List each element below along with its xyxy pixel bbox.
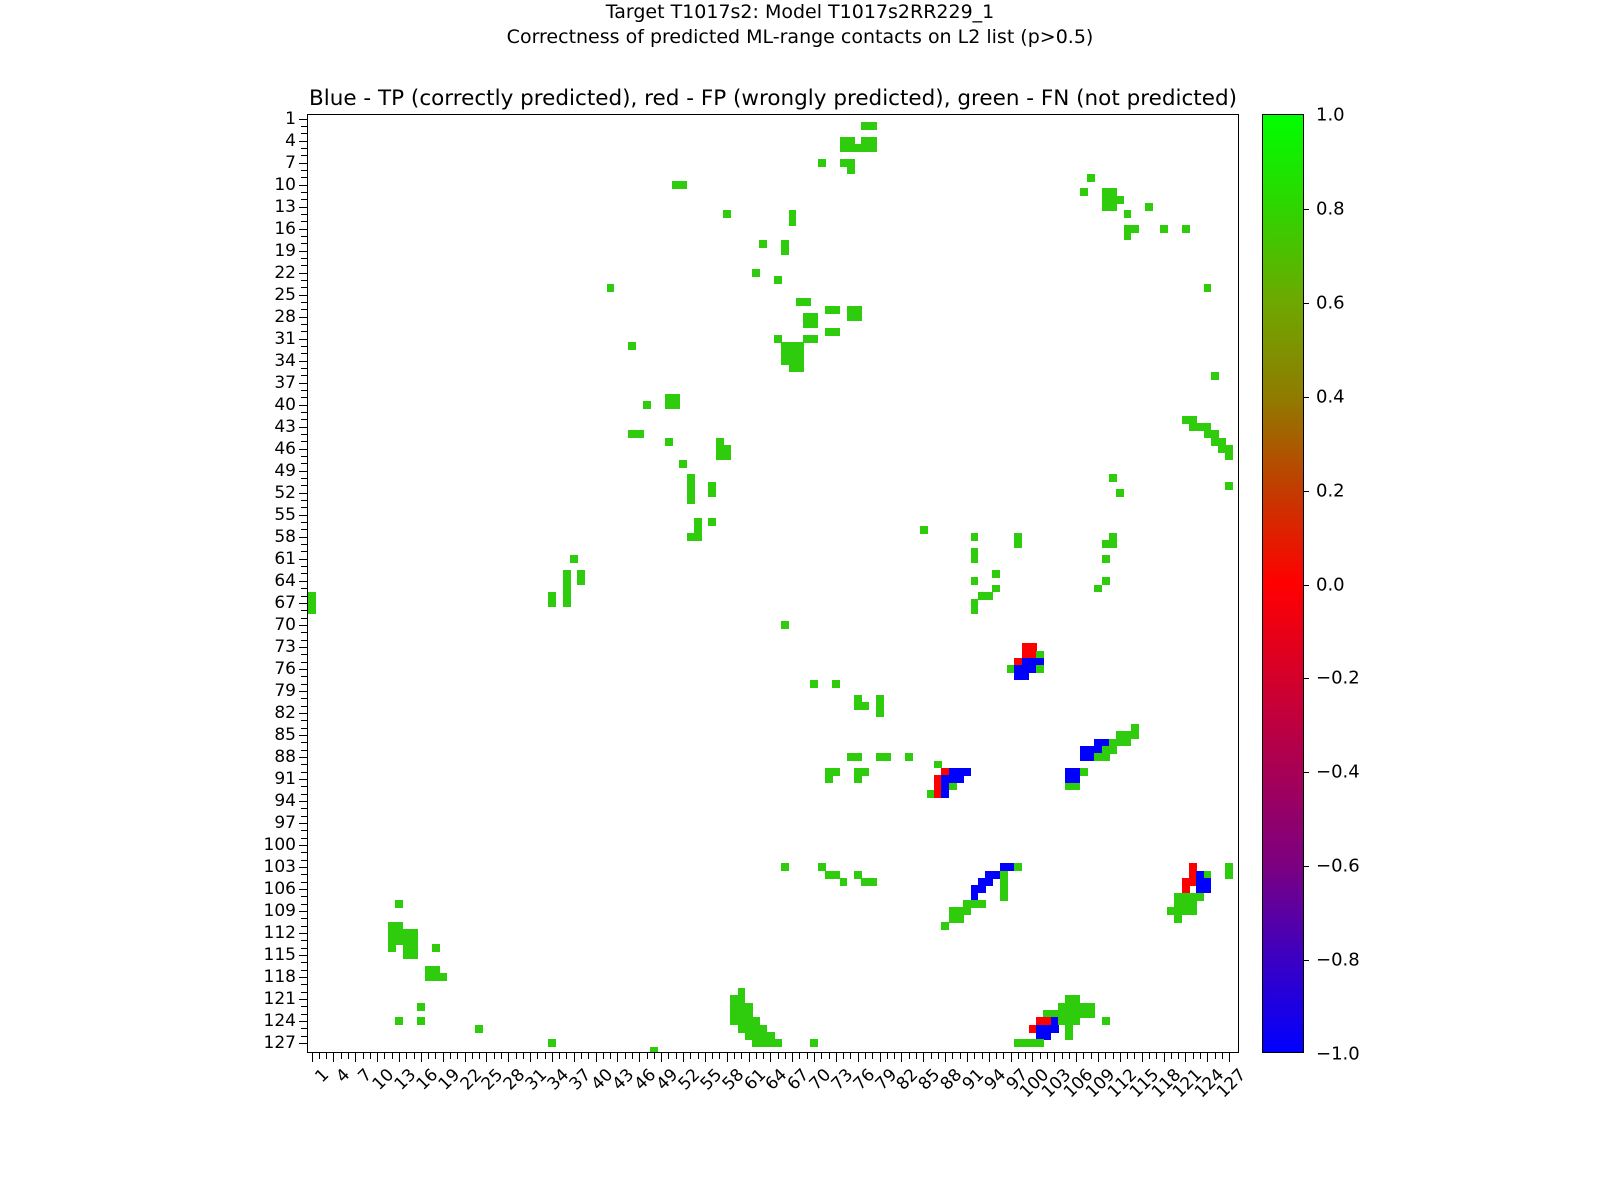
contact-cell — [1094, 585, 1102, 593]
y-tick-label: 43 — [274, 417, 296, 437]
colorbar-gradient — [1263, 115, 1303, 1052]
y-tick — [301, 500, 308, 501]
contact-cell — [1196, 893, 1204, 901]
contact-cell — [854, 313, 862, 321]
y-tick — [299, 383, 309, 384]
y-tick — [301, 750, 308, 751]
x-tick — [727, 1052, 728, 1062]
contact-map-figure: Target T1017s2: Model T1017s2RR229_1 Cor… — [0, 0, 1600, 1200]
x-tick — [785, 1052, 786, 1059]
colorbar[interactable]: 1.00.80.60.40.20.0−0.2−0.4−0.6−0.8−1.0 — [1262, 114, 1304, 1053]
y-tick — [299, 251, 309, 252]
x-tick — [559, 1052, 560, 1059]
x-tick — [457, 1052, 458, 1059]
contact-cell — [854, 775, 862, 783]
contact-cell — [1124, 210, 1132, 218]
contact-cell — [1124, 739, 1132, 747]
y-tick — [301, 830, 308, 831]
contact-cell — [708, 518, 716, 526]
y-tick — [301, 353, 308, 354]
y-tick — [301, 287, 308, 288]
y-tick — [301, 1028, 308, 1029]
contact-cell — [971, 607, 979, 615]
y-tick — [301, 948, 308, 949]
x-tick — [938, 1052, 939, 1059]
y-tick — [301, 148, 308, 149]
x-tick — [610, 1052, 611, 1059]
x-tick — [355, 1052, 356, 1062]
y-tick-label: 13 — [274, 197, 296, 217]
y-tick — [301, 544, 308, 545]
y-tick — [301, 764, 308, 765]
x-tick — [734, 1052, 735, 1059]
y-tick — [301, 728, 308, 729]
y-tick — [299, 801, 309, 802]
y-tick-label: 103 — [264, 857, 296, 877]
y-tick-label: 115 — [264, 945, 296, 965]
y-tick — [301, 918, 308, 919]
contact-cell — [1182, 225, 1190, 233]
colorbar-tick-label: 0.4 — [1316, 386, 1345, 407]
colorbar-tick — [1303, 397, 1309, 398]
y-tick — [299, 427, 309, 428]
x-tick — [778, 1052, 779, 1059]
y-tick — [299, 295, 309, 296]
x-tick — [370, 1052, 371, 1059]
contact-cell — [723, 210, 731, 218]
x-tick — [880, 1052, 881, 1062]
x-tick — [719, 1052, 720, 1059]
contact-cell — [1022, 673, 1030, 681]
y-tick — [299, 559, 309, 560]
contact-cell — [774, 1039, 782, 1047]
contact-cell — [847, 166, 855, 174]
y-tick-label: 1 — [285, 109, 296, 129]
contact-cell — [679, 181, 687, 189]
y-tick — [301, 852, 308, 853]
y-tick-label: 121 — [264, 989, 296, 1009]
colorbar-tick — [1303, 585, 1309, 586]
contact-cell — [1036, 665, 1044, 673]
contact-cell — [1109, 746, 1117, 754]
contact-cell — [1211, 372, 1219, 380]
contact-cell — [978, 900, 986, 908]
y-tick — [301, 706, 308, 707]
contact-cell — [1087, 1010, 1095, 1018]
x-tick — [319, 1052, 320, 1059]
colorbar-tick — [1303, 678, 1309, 679]
x-tick — [792, 1052, 793, 1062]
y-tick — [299, 1021, 309, 1022]
x-tick — [741, 1052, 742, 1059]
contact-cell — [1109, 203, 1117, 211]
contact-cell — [985, 592, 993, 600]
y-tick — [299, 119, 309, 120]
y-tick — [301, 684, 308, 685]
y-tick — [299, 207, 309, 208]
x-tick — [1076, 1052, 1077, 1062]
x-tick — [829, 1052, 830, 1059]
x-tick — [894, 1052, 895, 1059]
y-tick — [299, 977, 309, 978]
x-tick — [756, 1052, 757, 1059]
x-tick — [909, 1052, 910, 1059]
y-tick-label: 55 — [274, 505, 296, 525]
contact-cell — [810, 680, 818, 688]
x-tick — [1083, 1052, 1084, 1059]
y-tick — [301, 522, 308, 523]
y-tick — [301, 1006, 308, 1007]
y-tick — [299, 317, 309, 318]
contact-cell — [1160, 225, 1168, 233]
contact-cell — [636, 430, 644, 438]
y-tick — [299, 1043, 309, 1044]
contact-cell — [832, 680, 840, 688]
x-tick — [1011, 1052, 1012, 1062]
contact-cell — [1014, 863, 1022, 871]
x-tick — [916, 1052, 917, 1059]
y-tick — [301, 794, 308, 795]
contact-cell — [410, 951, 418, 959]
colorbar-tick-label: 0.0 — [1316, 574, 1345, 595]
contact-cell — [1116, 196, 1124, 204]
contact-cell — [723, 452, 731, 460]
colorbar-tick-label: 0.6 — [1316, 292, 1345, 313]
y-tick — [299, 603, 309, 604]
x-tick — [807, 1052, 808, 1059]
x-tick — [530, 1052, 531, 1062]
x-tick — [625, 1052, 626, 1059]
y-tick-label: 76 — [274, 659, 296, 679]
contact-cell — [1145, 203, 1153, 211]
y-tick-label: 58 — [274, 527, 296, 547]
x-tick — [1047, 1052, 1048, 1059]
contact-cell — [1189, 907, 1197, 915]
contact-cell — [956, 775, 964, 783]
y-tick-label: 118 — [264, 967, 296, 987]
x-tick — [1134, 1052, 1135, 1059]
y-tick — [301, 397, 308, 398]
y-tick — [299, 647, 309, 648]
x-tick — [574, 1052, 575, 1062]
x-tick — [1229, 1052, 1230, 1062]
contact-cell — [869, 122, 877, 130]
contact-cell — [687, 496, 695, 504]
y-tick-label: 4 — [285, 131, 296, 151]
x-tick — [923, 1052, 924, 1062]
x-tick — [617, 1052, 618, 1062]
contact-cell — [883, 753, 891, 761]
contact-cell — [832, 768, 840, 776]
y-tick — [301, 882, 308, 883]
y-tick-label: 73 — [274, 637, 296, 657]
y-tick — [301, 610, 308, 611]
contact-cell — [963, 768, 971, 776]
x-tick — [1149, 1052, 1150, 1059]
x-tick — [712, 1052, 713, 1059]
contact-cell — [861, 702, 869, 710]
colorbar-tick-label: −0.2 — [1316, 668, 1360, 689]
y-tick — [301, 214, 308, 215]
contact-cells-layer — [308, 115, 1238, 1052]
y-tick — [301, 199, 308, 200]
x-tick — [1040, 1052, 1041, 1059]
y-tick — [301, 1036, 308, 1037]
axes-title-legend: Blue - TP (correctly predicted), red - F… — [307, 86, 1239, 111]
x-tick — [698, 1052, 699, 1059]
x-tick-label: 4 — [333, 1065, 355, 1087]
y-tick — [299, 471, 309, 472]
contact-cell — [1102, 577, 1110, 585]
x-tick — [1200, 1052, 1201, 1059]
y-tick — [299, 185, 309, 186]
y-tick-label: 37 — [274, 373, 296, 393]
y-tick — [299, 845, 309, 846]
contact-cell — [971, 555, 979, 563]
x-tick — [836, 1052, 837, 1062]
y-tick — [301, 1014, 308, 1015]
y-tick-label: 10 — [274, 175, 296, 195]
x-tick — [967, 1052, 968, 1062]
y-tick — [301, 265, 308, 266]
x-tick — [465, 1052, 466, 1062]
contact-cell — [963, 907, 971, 915]
y-tick — [299, 933, 309, 934]
y-tick — [301, 507, 308, 508]
x-tick — [690, 1052, 691, 1059]
contact-cell — [577, 577, 585, 585]
y-tick — [301, 177, 308, 178]
y-tick — [299, 779, 309, 780]
colorbar-tick — [1303, 209, 1309, 210]
y-tick — [301, 808, 308, 809]
colorbar-tick — [1303, 960, 1309, 961]
contact-cell — [832, 328, 840, 336]
x-tick — [545, 1052, 546, 1059]
x-tick — [1003, 1052, 1004, 1059]
y-tick — [301, 904, 308, 905]
y-tick-label: 52 — [274, 483, 296, 503]
x-tick — [639, 1052, 640, 1062]
contact-cell — [1131, 225, 1139, 233]
contact-cell — [395, 1017, 403, 1025]
y-tick — [301, 221, 308, 222]
y-tick — [301, 441, 308, 442]
contact-cell — [803, 298, 811, 306]
x-tick — [333, 1052, 334, 1062]
y-tick — [301, 463, 308, 464]
y-tick-label: 91 — [274, 769, 296, 789]
y-tick — [301, 596, 308, 597]
contact-cell — [949, 783, 957, 791]
y-tick-label: 31 — [274, 329, 296, 349]
x-tick — [654, 1052, 655, 1059]
x-tick — [1193, 1052, 1194, 1059]
colorbar-tick-label: −1.0 — [1316, 1044, 1360, 1065]
contact-cell — [781, 863, 789, 871]
contact-cell — [643, 401, 651, 409]
x-tick — [377, 1052, 378, 1062]
x-tick — [406, 1052, 407, 1059]
x-tick — [1215, 1052, 1216, 1059]
contact-cell — [752, 269, 760, 277]
y-tick — [299, 449, 309, 450]
contact-cell — [978, 885, 986, 893]
y-tick — [299, 537, 309, 538]
colorbar-tick — [1303, 303, 1309, 304]
contact-cell — [1109, 474, 1117, 482]
y-tick-label: 64 — [274, 571, 296, 591]
x-tick — [1164, 1052, 1165, 1062]
contact-cell — [941, 790, 949, 798]
contact-cell — [1043, 1032, 1051, 1040]
x-tick — [479, 1052, 480, 1059]
contact-cell — [781, 247, 789, 255]
y-tick — [299, 361, 309, 362]
y-tick — [301, 940, 308, 941]
contact-cell — [992, 585, 1000, 593]
x-tick — [872, 1052, 873, 1059]
contact-cell — [1102, 555, 1110, 563]
x-tick — [1091, 1052, 1092, 1059]
y-tick — [301, 551, 308, 552]
y-tick — [299, 163, 309, 164]
suptitle-line-2: Correctness of predicted ML-range contac… — [0, 25, 1600, 50]
y-tick — [301, 742, 308, 743]
y-tick-label: 88 — [274, 747, 296, 767]
y-tick — [299, 339, 309, 340]
x-tick — [647, 1052, 648, 1059]
y-tick — [301, 155, 308, 156]
y-tick — [299, 141, 309, 142]
y-tick — [301, 838, 308, 839]
y-tick-label: 25 — [274, 285, 296, 305]
colorbar-tick — [1303, 772, 1309, 773]
y-tick-label: 79 — [274, 681, 296, 701]
y-tick — [301, 566, 308, 567]
x-tick — [858, 1052, 859, 1062]
x-tick — [931, 1052, 932, 1059]
y-tick — [301, 419, 308, 420]
contact-cell — [665, 438, 673, 446]
contact-cell — [708, 489, 716, 497]
y-tick — [301, 133, 308, 134]
contact-cell — [1109, 540, 1117, 548]
y-tick — [301, 302, 308, 303]
y-tick-label: 49 — [274, 461, 296, 481]
x-tick — [1178, 1052, 1179, 1059]
colorbar-tick — [1303, 866, 1309, 867]
x-tick — [428, 1052, 429, 1059]
contact-cell — [1102, 1017, 1110, 1025]
x-tick — [450, 1052, 451, 1059]
contact-cell — [774, 276, 782, 284]
y-tick — [301, 324, 308, 325]
x-tick — [1127, 1052, 1128, 1059]
contact-cell — [388, 944, 396, 952]
y-tick-label: 67 — [274, 593, 296, 613]
y-tick — [299, 581, 309, 582]
colorbar-tick-label: 1.0 — [1316, 105, 1345, 126]
x-tick — [1025, 1052, 1026, 1059]
y-tick-label: 70 — [274, 615, 296, 635]
x-tick — [1185, 1052, 1186, 1062]
y-tick — [301, 860, 308, 861]
x-tick — [668, 1052, 669, 1059]
colorbar-tick-label: −0.4 — [1316, 762, 1360, 783]
contact-cell — [1116, 489, 1124, 497]
x-tick — [588, 1052, 589, 1059]
y-tick — [301, 618, 308, 619]
y-tick — [301, 962, 308, 963]
y-tick — [301, 632, 308, 633]
y-tick — [301, 984, 308, 985]
contact-cell — [1080, 768, 1088, 776]
y-tick — [299, 669, 309, 670]
contact-cell — [985, 878, 993, 886]
colorbar-tick-label: −0.6 — [1316, 856, 1360, 877]
x-tick — [996, 1052, 997, 1059]
y-tick-label: 82 — [274, 703, 296, 723]
y-tick — [301, 573, 308, 574]
contact-map-plot-area[interactable]: 1471013161922252831343740434649525558616… — [307, 114, 1239, 1053]
x-tick — [850, 1052, 851, 1059]
x-tick — [326, 1052, 327, 1059]
contact-cell — [810, 335, 818, 343]
contact-cell — [432, 944, 440, 952]
y-tick — [301, 662, 308, 663]
colorbar-tick-label: 0.8 — [1316, 198, 1345, 219]
x-tick — [1105, 1052, 1106, 1059]
x-tick — [603, 1052, 604, 1059]
y-tick — [301, 478, 308, 479]
contact-cell — [1036, 1039, 1044, 1047]
y-tick — [301, 309, 308, 310]
contact-cell — [563, 599, 571, 607]
y-tick-label: 124 — [264, 1011, 296, 1031]
y-tick — [299, 625, 309, 626]
x-tick — [472, 1052, 473, 1059]
contact-cell — [1131, 731, 1139, 739]
x-tick — [676, 1052, 677, 1059]
x-tick — [1032, 1052, 1033, 1062]
contact-cell — [548, 599, 556, 607]
contact-cell — [1073, 783, 1081, 791]
y-tick — [301, 698, 308, 699]
x-tick — [763, 1052, 764, 1059]
x-tick — [348, 1052, 349, 1059]
x-tick — [705, 1052, 706, 1062]
y-tick — [301, 236, 308, 237]
y-tick — [301, 640, 308, 641]
y-tick — [301, 126, 308, 127]
contact-cell — [672, 401, 680, 409]
x-tick — [632, 1052, 633, 1059]
y-tick — [299, 515, 309, 516]
y-tick — [301, 412, 308, 413]
suptitle-line-1: Target T1017s2: Model T1017s2RR229_1 — [0, 0, 1600, 25]
x-tick — [1062, 1052, 1063, 1059]
x-tick — [749, 1052, 750, 1062]
contact-cell — [1087, 174, 1095, 182]
x-tick — [414, 1052, 415, 1059]
contact-cell — [869, 878, 877, 886]
contact-cell — [417, 1017, 425, 1025]
colorbar-tick-label: −0.8 — [1316, 950, 1360, 971]
y-tick — [299, 757, 309, 758]
contact-cell — [570, 555, 578, 563]
x-tick — [1054, 1052, 1055, 1062]
